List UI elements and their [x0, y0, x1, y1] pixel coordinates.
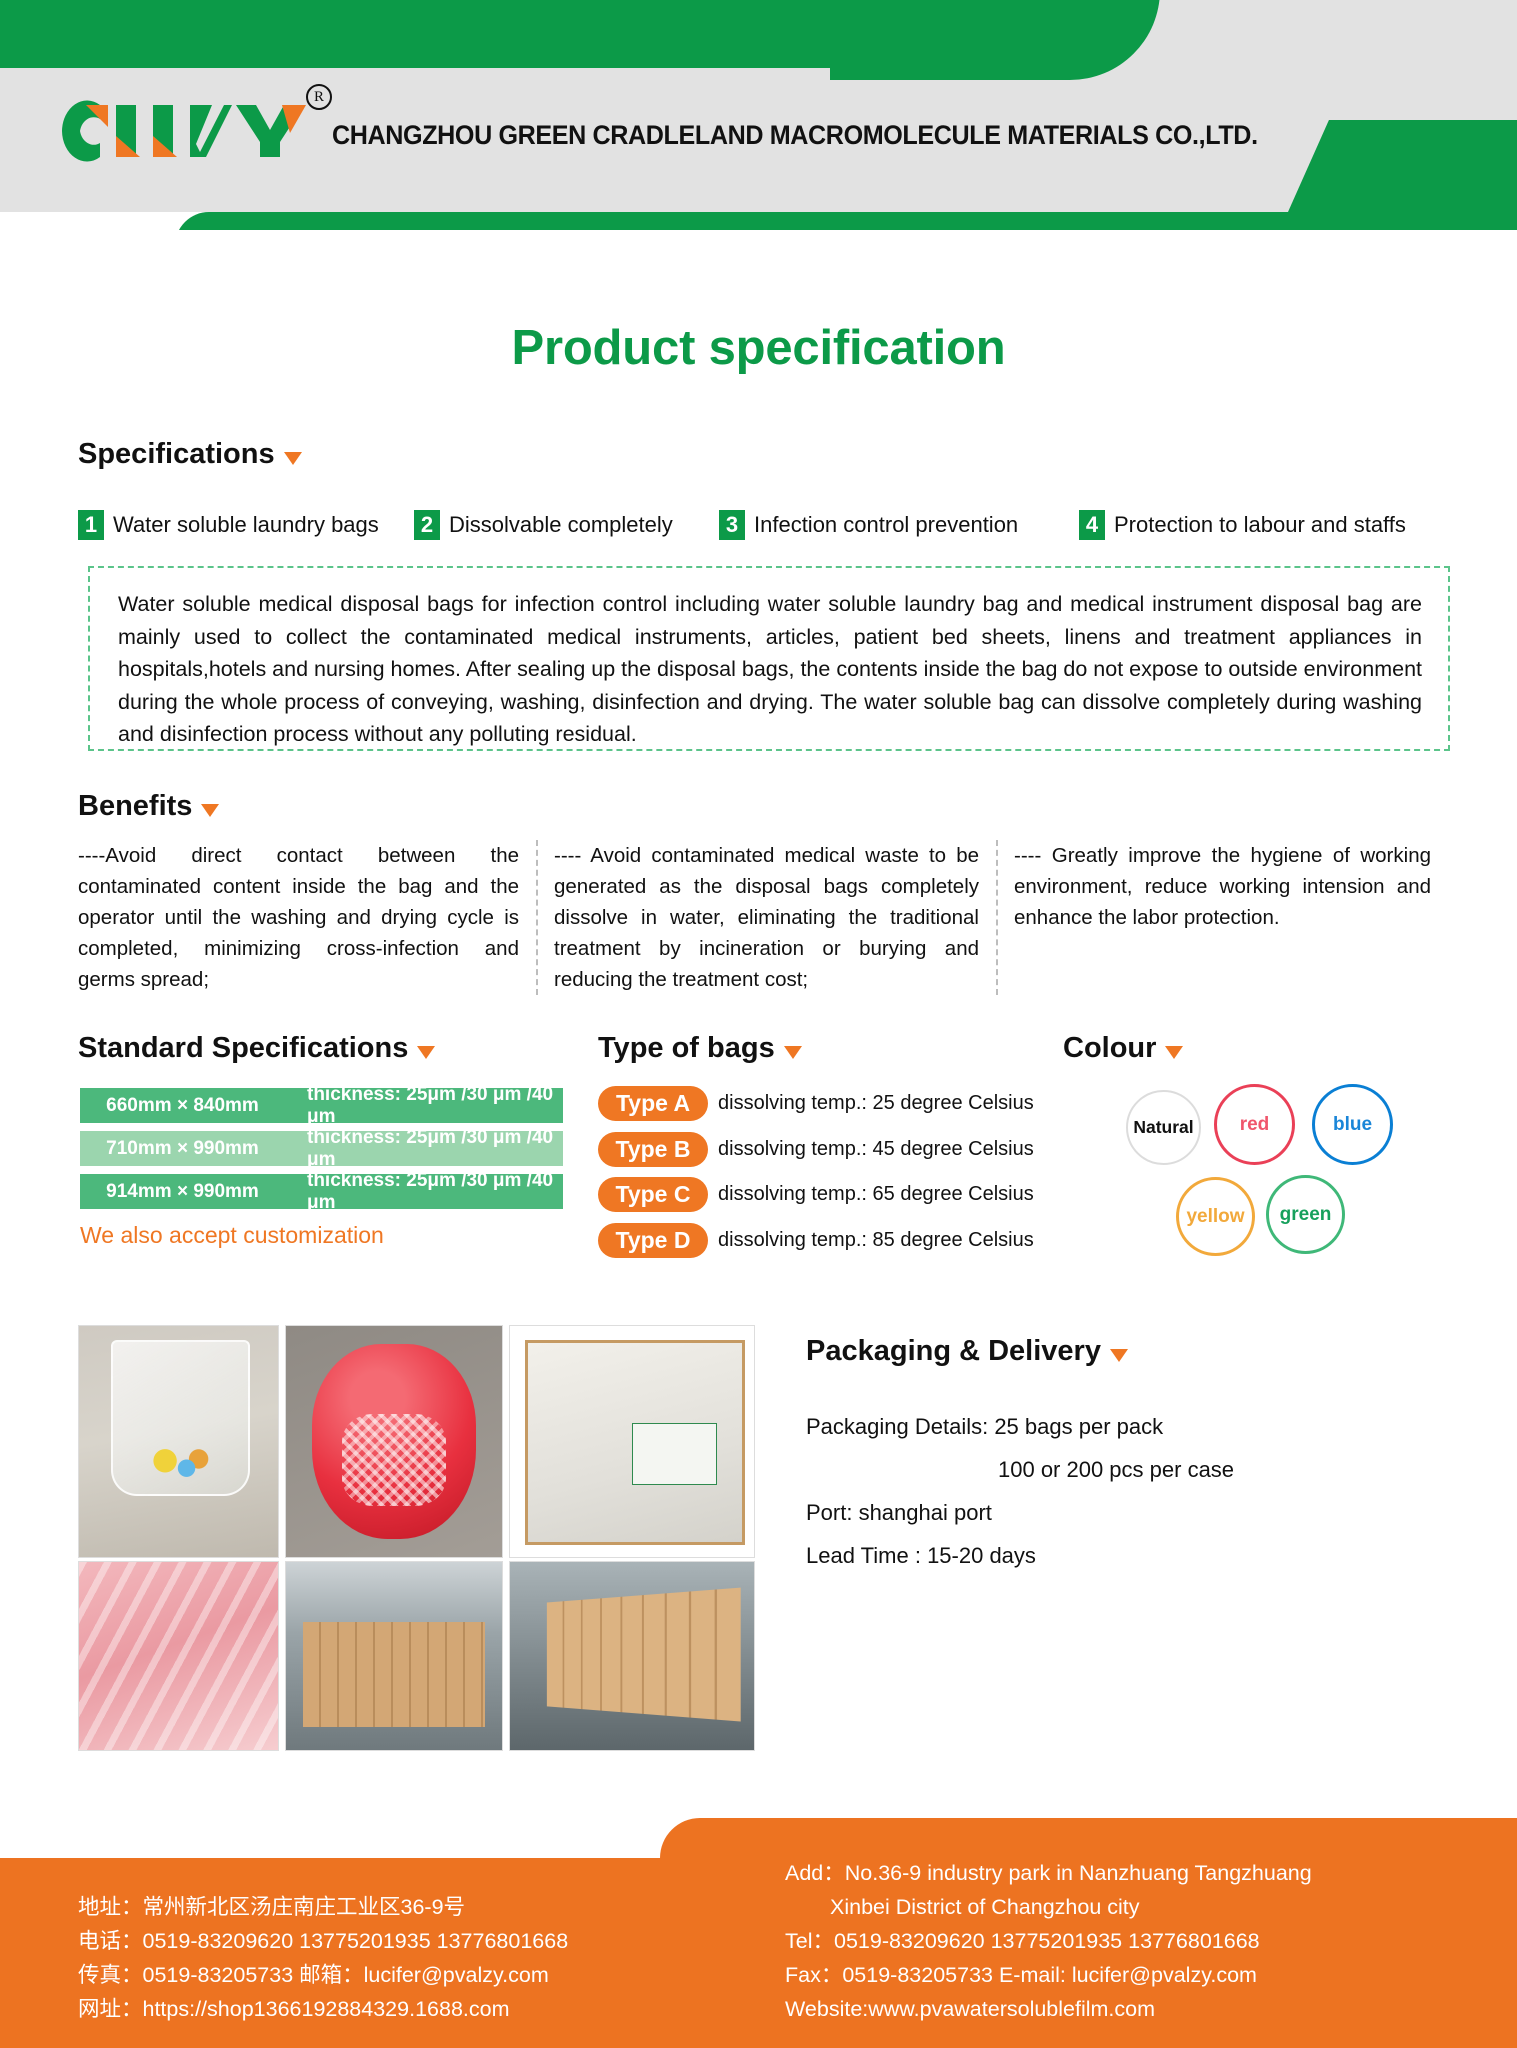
specifications-heading: Specifications	[78, 438, 302, 471]
product-photo-red-bag	[285, 1325, 503, 1558]
packaging-port-line: Port: shanghai port	[806, 1491, 1426, 1534]
customization-note: We also accept customization	[80, 1222, 384, 1249]
triangle-down-icon	[417, 1046, 435, 1059]
spec-size-cell: 660mm × 840mm	[80, 1088, 285, 1123]
bag-type-description: dissolving temp.: 85 degree Celsius	[718, 1229, 1034, 1252]
colour-swatch-yellow: yellow	[1176, 1177, 1255, 1256]
type-of-bags-list: Type A dissolving temp.: 25 degree Celsi…	[598, 1085, 1058, 1267]
bag-type-pill: Type C	[598, 1177, 708, 1212]
spec-size-label: 710mm × 990mm	[106, 1138, 259, 1160]
spec-item-label: Dissolvable completely	[449, 512, 673, 538]
footer-address-cn: 地址：常州新北区汤庄南庄工业区36-9号	[78, 1890, 568, 1924]
specifications-item-list: 1 Water soluble laundry bags 2 Dissolvab…	[78, 510, 1450, 540]
footer-contact-english: Add：No.36-9 industry park in Nanzhuang T…	[785, 1856, 1312, 2026]
packaging-lead-time-line: Lead Time : 15-20 days	[806, 1534, 1426, 1577]
header-green-top-shape	[0, 0, 940, 68]
bag-type-description: dissolving temp.: 65 degree Celsius	[718, 1183, 1034, 1206]
footer-address-en-line2: Xinbei District of Changzhou city	[785, 1890, 1312, 1924]
spec-badge-number: 3	[719, 510, 745, 540]
bag-type-description: dissolving temp.: 45 degree Celsius	[718, 1138, 1034, 1161]
spec-badge-number: 2	[414, 510, 440, 540]
triangle-down-icon	[284, 452, 302, 465]
header-green-curve-shape	[830, 0, 1160, 80]
spec-item-label: Infection control prevention	[754, 512, 1018, 538]
page-footer: 地址：常州新北区汤庄南庄工业区36-9号 电话：0519-83209620 13…	[0, 1828, 1517, 2048]
colour-options: Natural red blue yellow green	[1126, 1082, 1416, 1272]
product-specification-page: R CHANGZHOU GREEN CRADLELAND MACROMOLECU…	[0, 0, 1517, 2048]
footer-fax-email-cn: 传真：0519-83205733 邮箱：lucifer@pvalzy.com	[78, 1958, 568, 1992]
colour-swatch-green: green	[1266, 1175, 1345, 1254]
standard-specifications-heading: Standard Specifications	[78, 1032, 435, 1065]
spec-size-cell: 914mm × 990mm	[80, 1174, 285, 1209]
packaging-delivery-heading-label: Packaging & Delivery	[806, 1335, 1101, 1368]
product-photo-clear-bag	[78, 1325, 279, 1558]
bag-type-pill: Type A	[598, 1086, 708, 1121]
bag-type-pill: Type B	[598, 1132, 708, 1167]
specifications-heading-label: Specifications	[78, 438, 275, 471]
spec-thickness-label: thickness: 25μm /30 μm /40 μm	[307, 1084, 563, 1128]
bag-type-row: Type C dissolving temp.: 65 degree Celsi…	[598, 1176, 1058, 1213]
company-logo: R	[56, 100, 308, 162]
company-name: CHANGZHOU GREEN CRADLELAND MACROMOLECULE…	[332, 120, 1258, 151]
standard-specifications-table: 660mm × 840mm thickness: 25μm /30 μm /40…	[80, 1088, 567, 1217]
standard-spec-row: 710mm × 990mm thickness: 25μm /30 μm /40…	[80, 1131, 567, 1166]
benefit-column: ---- Greatly improve the hygiene of work…	[998, 840, 1448, 995]
header-green-lower-band	[175, 212, 1517, 230]
triangle-down-icon	[784, 1046, 802, 1059]
bag-type-row: Type D dissolving temp.: 85 degree Celsi…	[598, 1222, 1058, 1259]
spec-item-label: Water soluble laundry bags	[113, 512, 379, 538]
benefits-heading: Benefits	[78, 790, 219, 823]
product-photo-pallet	[509, 1561, 755, 1751]
spec-item-label: Protection to labour and staffs	[1114, 512, 1406, 538]
bag-type-description: dissolving temp.: 25 degree Celsius	[718, 1092, 1034, 1115]
packaging-detail-line: 100 or 200 pcs per case	[806, 1448, 1426, 1491]
spec-thickness-cell: thickness: 25μm /30 μm /40 μm	[281, 1088, 563, 1123]
specification-item: 4 Protection to labour and staffs	[1079, 510, 1450, 540]
bag-type-row: Type B dissolving temp.: 45 degree Celsi…	[598, 1131, 1058, 1168]
footer-fax-email-en: Fax：0519-83205733 E-mail: lucifer@pvalzy…	[785, 1958, 1312, 1992]
packaging-detail-line: Packaging Details: 25 bags per pack	[806, 1405, 1426, 1448]
page-title: Product specification	[0, 320, 1517, 376]
colour-heading: Colour	[1063, 1032, 1183, 1065]
specification-item: 2 Dissolvable completely	[414, 510, 719, 540]
spec-size-cell: 710mm × 990mm	[80, 1131, 285, 1166]
bag-type-row: Type A dissolving temp.: 25 degree Celsi…	[598, 1085, 1058, 1122]
spec-size-label: 660mm × 840mm	[106, 1095, 259, 1117]
colour-swatch-blue: blue	[1312, 1084, 1393, 1165]
standard-spec-row: 660mm × 840mm thickness: 25μm /30 μm /40…	[80, 1088, 567, 1123]
benefit-column: ---- Avoid contaminated medical waste to…	[538, 840, 998, 995]
triangle-down-icon	[1110, 1349, 1128, 1362]
spec-thickness-cell: thickness: 25μm /30 μm /40 μm	[281, 1174, 563, 1209]
specification-item: 3 Infection control prevention	[719, 510, 1079, 540]
spec-thickness-cell: thickness: 25μm /30 μm /40 μm	[281, 1131, 563, 1166]
spec-badge-number: 1	[78, 510, 104, 540]
product-photo-pink-sheet	[78, 1561, 279, 1751]
description-box: Water soluble medical disposal bags for …	[88, 566, 1450, 751]
footer-notch-shape	[660, 1818, 1517, 1858]
bag-type-pill: Type D	[598, 1223, 708, 1258]
benefits-columns: ----Avoid direct contact between the con…	[78, 840, 1450, 995]
standard-spec-row: 914mm × 990mm thickness: 25μm /30 μm /40…	[80, 1174, 567, 1209]
page-header: R CHANGZHOU GREEN CRADLELAND MACROMOLECU…	[0, 0, 1517, 230]
spec-badge-number: 4	[1079, 510, 1105, 540]
footer-tel-en: Tel：0519-83209620 13775201935 1377680166…	[785, 1924, 1312, 1958]
type-of-bags-heading: Type of bags	[598, 1032, 802, 1065]
product-photo-gallery	[78, 1325, 755, 1751]
footer-address-en: Add：No.36-9 industry park in Nanzhuang T…	[785, 1856, 1312, 1890]
benefits-heading-label: Benefits	[78, 790, 192, 823]
colour-swatch-red: red	[1214, 1084, 1295, 1165]
specification-item: 1 Water soluble laundry bags	[78, 510, 414, 540]
spec-thickness-label: thickness: 25μm /30 μm /40 μm	[307, 1127, 563, 1171]
product-photo-container	[285, 1561, 503, 1751]
packaging-delivery-details: Packaging Details: 25 bags per pack 100 …	[806, 1405, 1426, 1577]
spec-size-label: 914mm × 990mm	[106, 1181, 259, 1203]
registered-trademark-icon: R	[306, 84, 332, 110]
product-photo-carton	[509, 1325, 755, 1558]
footer-phone-cn: 电话：0519-83209620 13775201935 13776801668	[78, 1924, 568, 1958]
colour-swatch-natural: Natural	[1126, 1090, 1201, 1165]
triangle-down-icon	[1165, 1046, 1183, 1059]
triangle-down-icon	[201, 804, 219, 817]
spec-thickness-label: thickness: 25μm /30 μm /40 μm	[307, 1170, 563, 1214]
type-of-bags-heading-label: Type of bags	[598, 1032, 775, 1065]
footer-website-cn[interactable]: 网址：https://shop1366192884329.1688.com	[78, 1992, 568, 2026]
standard-specifications-heading-label: Standard Specifications	[78, 1032, 408, 1065]
logo-glyphs-svg	[56, 100, 308, 162]
benefit-column: ----Avoid direct contact between the con…	[78, 840, 538, 995]
packaging-delivery-heading: Packaging & Delivery	[806, 1335, 1128, 1368]
footer-contact-chinese: 地址：常州新北区汤庄南庄工业区36-9号 电话：0519-83209620 13…	[78, 1890, 568, 2026]
description-text: Water soluble medical disposal bags for …	[118, 588, 1422, 751]
colour-heading-label: Colour	[1063, 1032, 1156, 1065]
logo-letters-cllzy: R	[56, 100, 308, 162]
footer-website-en[interactable]: Website:www.pvawatersolublefilm.com	[785, 1992, 1312, 2026]
